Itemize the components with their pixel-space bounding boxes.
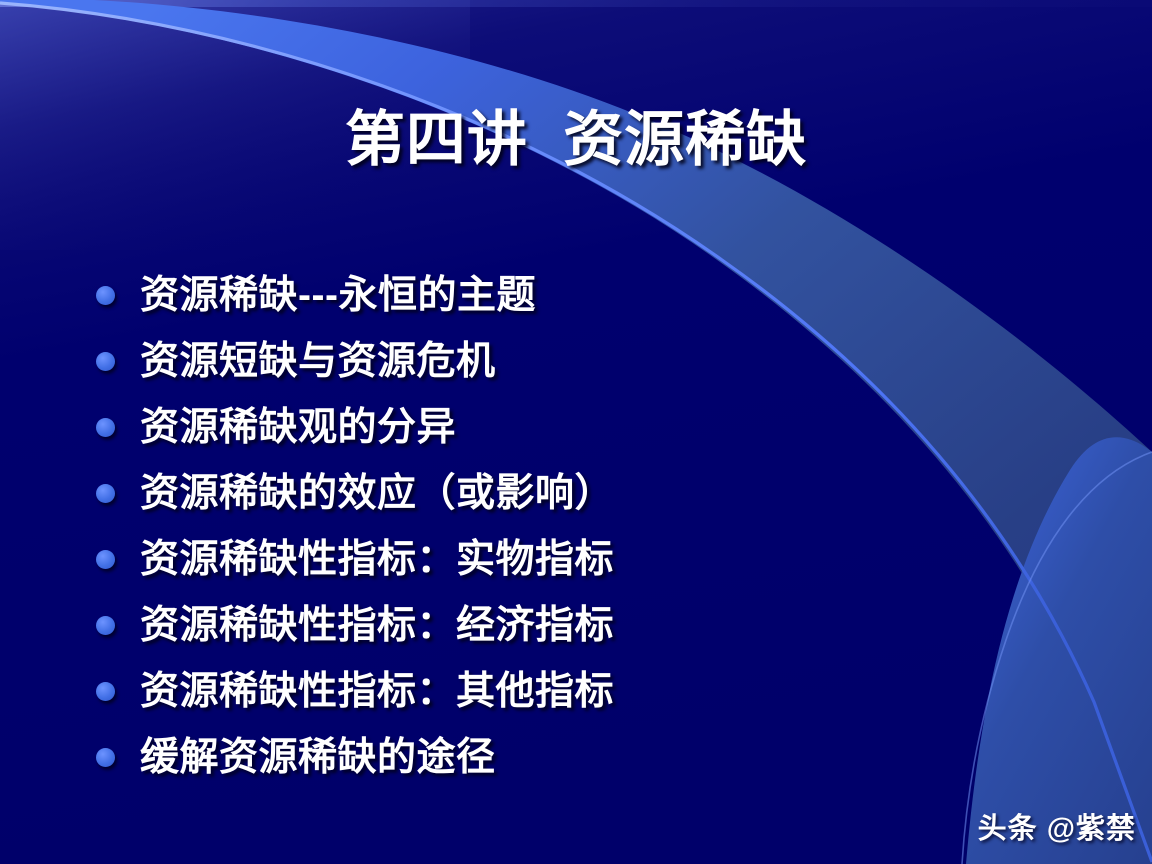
list-item-label: 资源稀缺---永恒的主题: [140, 276, 536, 315]
bullet-dot-icon: [96, 352, 115, 371]
bullet-list: 资源稀缺---永恒的主题 资源短缺与资源危机 资源稀缺观的分异 资源稀缺的效应（…: [96, 262, 1076, 790]
list-item-label: 资源稀缺性指标：实物指标: [140, 540, 614, 579]
list-item-label: 资源稀缺性指标：其他指标: [140, 672, 614, 711]
watermark: 头条 @紫禁: [978, 805, 1136, 847]
list-item: 资源稀缺性指标：其他指标: [96, 658, 1076, 724]
list-item-label: 资源稀缺的效应（或影响）: [140, 474, 614, 513]
bullet-dot-icon: [96, 550, 115, 569]
bullet-dot-icon: [96, 682, 115, 701]
bullet-dot-icon: [96, 418, 115, 437]
list-item-label: 资源短缺与资源危机: [140, 342, 496, 381]
list-item: 资源稀缺性指标：实物指标: [96, 526, 1076, 592]
bullet-dot-icon: [96, 484, 115, 503]
list-item: 资源稀缺的效应（或影响）: [96, 460, 1076, 526]
list-item: 资源稀缺---永恒的主题: [96, 262, 1076, 328]
list-item: 资源短缺与资源危机: [96, 328, 1076, 394]
bullet-dot-icon: [96, 616, 115, 635]
slide-title: 第四讲 资源稀缺: [0, 108, 1152, 173]
list-item-label: 缓解资源稀缺的途径: [140, 738, 496, 777]
bullet-dot-icon: [96, 748, 115, 767]
list-item: 资源稀缺性指标：经济指标: [96, 592, 1076, 658]
list-item: 资源稀缺观的分异: [96, 394, 1076, 460]
list-item-label: 资源稀缺性指标：经济指标: [140, 606, 614, 645]
bullet-dot-icon: [96, 286, 115, 305]
list-item-label: 资源稀缺观的分异: [140, 408, 456, 447]
slide-canvas: 第四讲 资源稀缺 资源稀缺---永恒的主题 资源短缺与资源危机 资源稀缺观的分异…: [0, 0, 1152, 864]
list-item: 缓解资源稀缺的途径: [96, 724, 1076, 790]
